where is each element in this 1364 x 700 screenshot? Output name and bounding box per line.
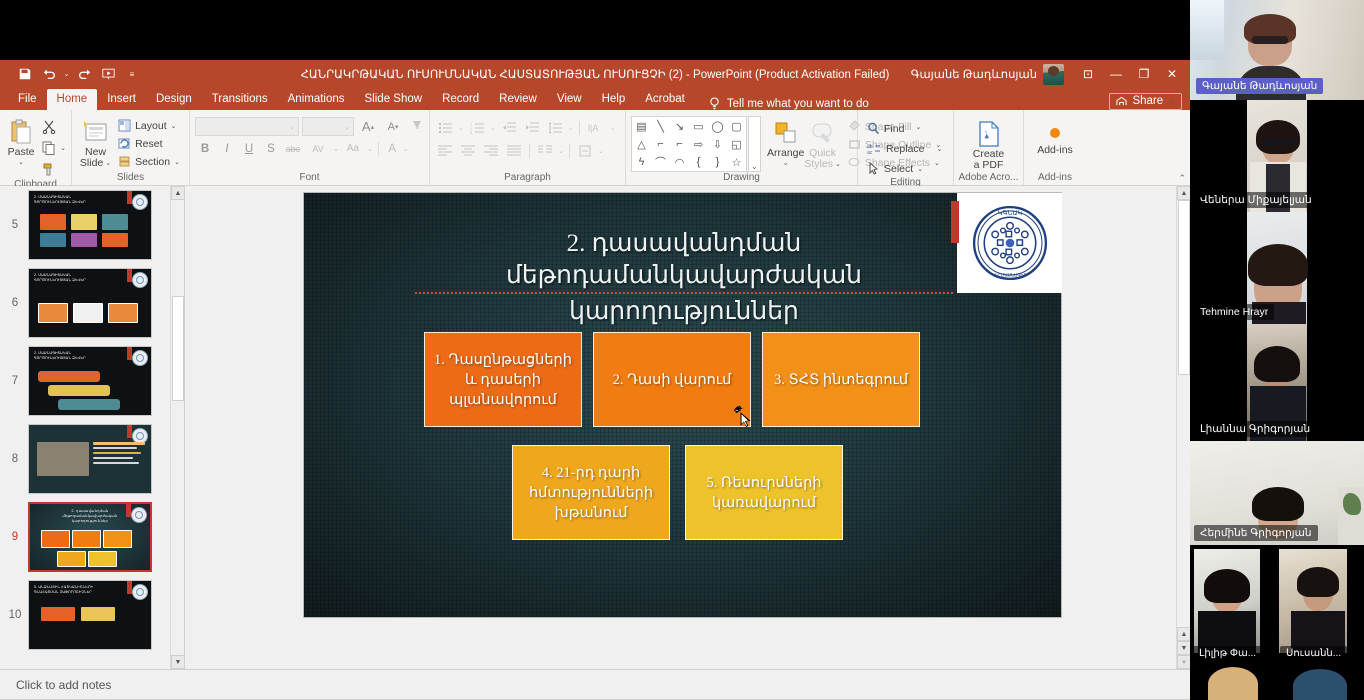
chevron-down-icon[interactable]: ⌄ <box>18 158 24 166</box>
replace-label: Replace <box>886 143 925 155</box>
justify-button[interactable] <box>504 141 524 160</box>
account-name[interactable]: Գայանե Թադևոսյան <box>911 67 1037 81</box>
thumbnail-logo-icon <box>131 507 147 523</box>
triangle-shape[interactable]: △ <box>632 135 651 153</box>
quick-styles-icon <box>810 118 836 148</box>
thumbnail-title: 2. ՄԱՍՆԱԳԻՏԱԿԱՆԳՈՐԾՈՒՆԵՈՒԹՅԱՆ ՁԵՎԵՐ <box>34 351 131 361</box>
ribbon-tabs: File Home Insert Design Transitions Anim… <box>0 88 1190 110</box>
participant-tile[interactable]: Tehmine Hrayr <box>1190 212 1364 324</box>
content-box-4[interactable]: 4. 21-րդ դարի հմտությունների խթանում <box>512 445 670 540</box>
tab-transitions[interactable]: Transitions <box>202 89 278 110</box>
thumbnail-item[interactable]: 5 2. ՄԱՍՆԱԳԻՏԱԿԱՆԳՈՐԾՈՒՆԵՈՒԹՅԱՆ ՁԵՎԵՐ <box>0 186 184 264</box>
participant-name: Վեներա Միքայելյան <box>1194 192 1318 208</box>
content-box-1[interactable]: 1. Դասընթացների և դասերի պլանավորում <box>424 332 582 427</box>
rectangle-shape[interactable]: ▭ <box>689 117 708 135</box>
scroll-up-icon[interactable]: ▲ <box>171 186 185 200</box>
chevron-down-icon[interactable]: ⌄ <box>835 159 841 170</box>
chevron-down-icon[interactable]: ⌄ <box>403 145 409 153</box>
tab-slide-show[interactable]: Slide Show <box>355 89 433 110</box>
bullets-button[interactable] <box>435 118 455 137</box>
logo-text: ԿԳՆԱԿ <box>997 209 1022 217</box>
layout-button[interactable]: Layout ⌄ <box>114 117 184 134</box>
scroll-up-icon[interactable]: ▲ <box>1177 186 1191 200</box>
tell-me-search[interactable]: Tell me what you want to do <box>709 97 869 110</box>
thumbnail-item[interactable]: 6 2. ՄԱՍՆԱԳԻՏԱԿԱՆԳՈՐԾՈՒՆԵՈՒԹՅԱՆ ՁԵՎԵՐ <box>0 264 184 342</box>
thumbnail-number: 10 <box>6 609 24 621</box>
chevron-down-icon[interactable]: ⌄ <box>610 124 616 132</box>
thumbnail-item[interactable]: 8 <box>0 420 184 498</box>
share-icon <box>1116 96 1127 107</box>
line-spacing-button[interactable] <box>545 118 565 137</box>
align-left-button[interactable] <box>435 141 455 160</box>
chevron-down-icon[interactable]: ⌄ <box>558 147 564 155</box>
content-box-row-bottom: 4. 21-րդ դարի հմտությունների խթանում 5. … <box>512 445 843 540</box>
slide-title-line1: 2. դասավանդման <box>414 228 954 260</box>
elbow2-shape[interactable]: ⌐ <box>670 135 689 153</box>
participant-tile-row-partial <box>1190 665 1364 700</box>
scrollbar-thumb[interactable] <box>172 296 184 401</box>
add-ins-label: Add-ins <box>1037 145 1073 156</box>
tab-acrobat[interactable]: Acrobat <box>635 89 695 110</box>
ribbon-group-addins: Add-ins Add-ins <box>1024 110 1086 185</box>
font-color-button[interactable]: A <box>384 139 401 158</box>
thumbnail-scrollbar[interactable]: ▲ ▼ <box>170 186 184 669</box>
content-box-5[interactable]: 5. Ռեսուրսների կառավարում <box>685 445 843 540</box>
replace-button[interactable]: abac Replace ⌄ <box>863 140 946 157</box>
shape-gallery[interactable]: ▤ ╲ ↘ ▭ ◯ ▢ △ ⌐ ⌐ ⇨ ⇩ ◱ ϟ <box>631 116 747 172</box>
title-bar: ⌄ ≡ ՀԱՆՐԱԿՐԹԱԿԱՆ ՈՒՍՈՒՄՆԱԿԱՆ ՀԱՍՏԱՏՈՒԹՅԱ… <box>0 60 1190 88</box>
start-presentation-icon[interactable] <box>97 64 119 84</box>
new-slide-label-line2: Slide <box>80 158 103 169</box>
screen: ⌄ ≡ ՀԱՆՐԱԿՐԹԱԿԱՆ ՈՒՍՈՒՄՆԱԿԱՆ ՀԱՍՏԱՏՈՒԹՅԱ… <box>0 0 1364 700</box>
create-pdf-button[interactable]: Create a PDF <box>959 117 1018 171</box>
change-case-button[interactable]: Aa <box>341 139 365 158</box>
chevron-down-icon[interactable]: ⌄ <box>367 145 373 153</box>
collapse-ribbon-icon[interactable]: ⌃ <box>1178 173 1186 184</box>
content-box-3[interactable]: 3. ՏՀՏ ինտեգրում <box>762 332 920 427</box>
notes-placeholder: Click to add notes <box>16 678 111 692</box>
tab-home[interactable]: Home <box>47 89 98 110</box>
thumbnail-item[interactable]: 7 2. ՄԱՍՆԱԳԻՏԱԿԱՆԳՈՐԾՈՒՆԵՈՒԹՅԱՆ ՁԵՎԵՐ <box>0 342 184 420</box>
chevron-down-icon[interactable]: ⌄ <box>105 158 111 169</box>
flowchart-shape[interactable]: ◱ <box>727 135 746 153</box>
participant-tile[interactable]: Լիաննա Գրիգորյան <box>1190 324 1364 441</box>
svg-text:ac: ac <box>867 150 873 155</box>
slide-vertical-scrollbar[interactable]: ▲ ▲ ▼ ✧ <box>1176 186 1190 669</box>
scroll-down-icon[interactable]: ▼ <box>171 655 185 669</box>
decrease-font-size-icon[interactable]: A▾ <box>382 117 404 136</box>
italic-button[interactable]: I <box>217 139 237 158</box>
next-slide-button[interactable]: ▼ <box>1177 641 1191 655</box>
scrollbar-thumb[interactable] <box>1178 200 1190 375</box>
find-button[interactable]: Find <box>863 120 946 137</box>
chevron-down-icon[interactable]: ⌄ <box>598 147 604 155</box>
increase-font-size-icon[interactable]: A▴ <box>357 117 379 136</box>
redo-icon[interactable] <box>73 64 95 84</box>
paste-icon <box>9 117 33 147</box>
right-arrow-shape[interactable]: ⇨ <box>689 135 708 153</box>
new-slide-button[interactable]: New Slide ⌄ <box>77 115 114 169</box>
group-label-font: Font <box>190 172 429 185</box>
replace-icon: abac <box>867 142 882 155</box>
star-shape[interactable]: ☆ <box>727 153 746 171</box>
text-shadow-button[interactable]: S <box>261 139 281 158</box>
select-icon <box>867 162 880 175</box>
thumbnail-item-selected[interactable]: 9 2. դասավանդմանմեթոդամանկավարժականկարող… <box>0 498 184 576</box>
customize-qat-icon[interactable]: ≡ <box>121 64 143 84</box>
oval-shape[interactable]: ◯ <box>708 117 727 135</box>
ribbon-group-clipboard: Paste ⌄ ⌄ <box>0 110 72 185</box>
chevron-down-icon[interactable]: ⌄ <box>490 124 496 132</box>
chevron-down-icon: ⌄ <box>171 122 177 130</box>
ribbon-group-drawing: ▤ ╲ ↘ ▭ ◯ ▢ △ ⌐ ⌐ ⇨ ⇩ ◱ ϟ <box>626 110 858 185</box>
participant-tile[interactable]: Սուսանն... <box>1277 545 1364 665</box>
select-button[interactable]: Select ⌄ <box>863 160 946 177</box>
left-brace-shape[interactable]: { <box>689 153 708 171</box>
group-label-slides: Slides <box>72 172 189 185</box>
title-bar-right: Գայանե Թադևոսյան ⊡ — ❐ ✕ <box>911 61 1190 87</box>
participant-tile[interactable]: Գայանե Թադևոսյան <box>1190 0 1364 100</box>
thumbnail-preview[interactable]: 2. ՄԱՍՆԱԳԻՏԱԿԱՆԳՈՐԾՈՒՆԵՈՒԹՅԱՆ ՁԵՎԵՐ <box>28 346 152 416</box>
slide-title[interactable]: 2. դասավանդման մեթոդամանկավարժական կարող… <box>414 228 954 328</box>
thumbnail-preview[interactable]: 2. դասավանդմանմեթոդամանկավարժականկարողու… <box>28 502 152 572</box>
current-slide[interactable]: 2. դասավանդման մեթոդամանկավարժական կարող… <box>304 193 1061 617</box>
thumbnail-title: 2. ՄԱՍՆԱԳԻՏԱԿԱՆԳՈՐԾՈՒՆԵՈՒԹՅԱՆ ՁԵՎԵՐ <box>34 195 131 205</box>
chevron-down-icon: ⌄ <box>174 158 180 166</box>
section-icon <box>118 155 131 168</box>
participant-name: Սուսանն... <box>1280 646 1347 661</box>
textbox-shape[interactable]: ▤ <box>632 117 651 135</box>
slide-thumbnail-pane[interactable]: 5 2. ՄԱՍՆԱԳԻՏԱԿԱՆԳՈՐԾՈՒՆԵՈՒԹՅԱՆ ՁԵՎԵՐ 6 <box>0 186 185 669</box>
shape-gallery-more[interactable]: ⌄ <box>748 116 761 172</box>
slide-title-line3: կարողություններ <box>414 296 954 328</box>
font-name-input[interactable]: ⌄ <box>195 117 299 136</box>
slide-editing-area[interactable]: 2. դասավանդման մեթոդամանկավարժական կարող… <box>185 186 1190 669</box>
content-box-row-top: 1. Դասընթացների և դասերի պլանավորում 2. … <box>424 332 920 427</box>
svg-text:3: 3 <box>470 130 473 134</box>
line-shape[interactable]: ╲ <box>651 117 670 135</box>
tab-animations[interactable]: Animations <box>278 89 355 110</box>
participant-name: Հերմինե Գրիգորյան <box>1194 525 1318 541</box>
notes-pane[interactable]: Click to add notes <box>0 669 1190 699</box>
thumbnail-preview[interactable]: 2. ՄԱՍՆԱԳԻՏԱԿԱՆԳՈՐԾՈՒՆԵՈՒԹՅԱՆ ՁԵՎԵՐ <box>28 190 152 260</box>
arrange-button[interactable]: Arrange ⌄ <box>767 116 804 167</box>
participant-tile[interactable]: Հերմինե Գրիգորյան <box>1190 441 1364 545</box>
caret-down-icon[interactable]: ⌄ <box>62 64 71 84</box>
participant-tile[interactable]: Վեներա Միքայելյան <box>1190 100 1364 212</box>
previous-slide-button[interactable]: ▲ <box>1177 627 1191 641</box>
thumbnail-logo-icon <box>132 272 148 288</box>
thumbnail-number: 7 <box>6 375 24 387</box>
participant-name: Լիլիթ Փա... <box>1193 646 1262 661</box>
reset-button[interactable]: Reset <box>114 135 184 152</box>
group-label-drawing: Drawing <box>626 172 857 185</box>
chevron-down-icon: ⌄ <box>917 165 923 173</box>
svg-text:l|A: l|A <box>588 123 598 133</box>
text-direction-button[interactable]: l|A <box>585 118 607 137</box>
share-button[interactable]: Share ⌄ <box>1109 93 1182 110</box>
workspace: 5 2. ՄԱՍՆԱԳԻՏԱԿԱՆԳՈՐԾՈՒՆԵՈՒԹՅԱՆ ՁԵՎԵՐ 6 <box>0 186 1190 669</box>
down-arrow-shape[interactable]: ⇩ <box>708 135 727 153</box>
reset-icon <box>118 137 131 150</box>
ribbon-group-font: ⌄ ⌄ A▴ A▾ B I U S abc AV <box>190 110 430 185</box>
tab-file[interactable]: File <box>8 89 47 110</box>
search-icon <box>867 122 880 135</box>
reset-label: Reset <box>135 138 162 150</box>
columns-button[interactable] <box>535 141 555 160</box>
chevron-down-icon[interactable]: ⌄ <box>783 159 789 167</box>
back-to-first-slide-button[interactable]: ✧ <box>1177 655 1191 669</box>
tab-design[interactable]: Design <box>146 89 202 110</box>
thumbnail-logo-icon <box>132 350 148 366</box>
minimize-button[interactable]: — <box>1102 61 1130 87</box>
ribbon-group-editing: Find abac Replace ⌄ Select ⌄ <box>858 110 954 185</box>
paste-label: Paste <box>8 147 35 158</box>
thumbnail-preview[interactable]: 2. ՄԱՍՆԱԳԻՏԱԿԱՆԳՈՐԾՈՒՆԵՈՒԹՅԱՆ ՁԵՎԵՐ <box>28 268 152 338</box>
undo-icon[interactable] <box>38 64 60 84</box>
align-right-button[interactable] <box>481 141 501 160</box>
ribbon-group-slides: New Slide ⌄ Layout ⌄ <box>72 110 190 185</box>
logo-subtext: ՀՀ ՄԱՍՆԱԳԻՏ <box>993 273 1026 278</box>
powerpoint-window: ⌄ ≡ ՀԱՆՐԱԿՐԹԱԿԱՆ ՈՒՍՈՒՄՆԱԿԱՆ ՀԱՍՏԱՏՈՒԹՅԱ… <box>0 60 1190 700</box>
participant-tile[interactable]: Լիլիթ Փա... <box>1190 545 1277 665</box>
tab-record[interactable]: Record <box>432 89 489 110</box>
find-label: Find <box>884 123 904 135</box>
curve-shape[interactable]: ⌒ <box>651 153 670 171</box>
rounded-rect-shape[interactable]: ▢ <box>727 117 746 135</box>
align-text-button[interactable] <box>575 141 595 160</box>
strikethrough-button[interactable]: abc <box>283 139 303 158</box>
section-label: Section <box>135 156 170 168</box>
chevron-down-icon[interactable]: ⌄ <box>568 124 574 132</box>
restore-button[interactable]: ❐ <box>1130 61 1158 87</box>
thumbnail-title: 2. ՄԱՍՆԱԳԻՏԱԿԱՆԳՈՐԾՈՒՆԵՈՒԹՅԱՆ ՁԵՎԵՐ <box>34 273 131 283</box>
chevron-down-icon[interactable]: ⌄ <box>333 145 339 153</box>
content-box-2[interactable]: 2. Դասի վարում <box>593 332 751 427</box>
participant-tile[interactable] <box>1190 665 1277 700</box>
close-button[interactable]: ✕ <box>1158 61 1186 87</box>
arc-shape[interactable]: ◠ <box>670 153 689 171</box>
section-button[interactable]: Section ⌄ <box>114 153 184 170</box>
character-spacing-button[interactable]: AV <box>305 139 331 158</box>
new-slide-icon <box>83 117 109 147</box>
clear-formatting-icon[interactable] <box>407 117 427 136</box>
copy-icon[interactable] <box>38 138 60 158</box>
thumbnail-title: 3. ԱՆՁՆԱՅԻՆ ՀԱՏԿԱՆԻՇՆԵՐԻԳՆԱՀԱՏՄԱՆ ՉԱՓՈՐՈ… <box>34 585 131 595</box>
participant-name: Լիաննա Գրիգորյան <box>1194 421 1316 437</box>
participant-tile[interactable] <box>1277 665 1364 700</box>
layout-icon <box>118 119 131 132</box>
cut-icon[interactable] <box>38 117 60 137</box>
thumbnail-logo-icon <box>132 194 148 210</box>
align-center-button[interactable] <box>458 141 478 160</box>
thumbnail-title: 2. դասավանդմանմեթոդամանկավարժականկարողու… <box>46 509 134 524</box>
arrange-icon <box>773 118 799 148</box>
arrow-shape[interactable]: ↘ <box>670 117 689 135</box>
quick-styles-label-2: Styles <box>804 159 833 170</box>
ribbon-group-adobe: Create a PDF Adobe Acro... <box>954 110 1024 185</box>
tab-review[interactable]: Review <box>489 89 547 110</box>
chevron-down-icon: ⌄ <box>1168 97 1174 105</box>
add-ins-icon <box>1046 121 1064 145</box>
add-ins-button[interactable]: Add-ins <box>1029 119 1081 156</box>
chevron-down-icon[interactable]: ⌄ <box>937 145 943 153</box>
freeform-shape[interactable]: ϟ <box>632 153 651 171</box>
chevron-down-icon[interactable]: ⌄ <box>60 144 66 152</box>
increase-indent-button[interactable] <box>522 118 542 137</box>
thumbnail-number: 9 <box>6 531 24 543</box>
tab-insert[interactable]: Insert <box>97 89 146 110</box>
institution-logo[interactable]: ԿԳՆԱԿ ՀՀ ՄԱՍՆԱԳԻՏ <box>957 193 1062 293</box>
tab-help[interactable]: Help <box>592 89 636 110</box>
ribbon-group-paragraph: ⌄ 123 ⌄ ⌄ <box>430 110 626 185</box>
participant-name: Tehmine Hrayr <box>1194 304 1274 320</box>
avatar[interactable] <box>1043 64 1064 85</box>
participant-tile-row: Լիլիթ Փա... Սուսանն... <box>1190 545 1364 665</box>
thumbnail-preview[interactable] <box>28 424 152 494</box>
select-label: Select <box>884 163 913 175</box>
kgnak-logo-icon: ԿԳՆԱԿ ՀՀ ՄԱՍՆԱԳԻՏ <box>971 204 1049 282</box>
thumbnail-logo-icon <box>132 584 148 600</box>
group-label-adobe: Adobe Acro... <box>954 172 1023 185</box>
bold-button[interactable]: B <box>195 139 215 158</box>
ribbon: Paste ⌄ ⌄ <box>0 110 1190 186</box>
ribbon-display-options-icon[interactable]: ⊡ <box>1074 61 1102 87</box>
video-conference-panel: Գայանե Թադևոսյան Վեներա Միքայելյան Tehmi… <box>1190 0 1364 700</box>
paste-button[interactable]: Paste ⌄ <box>5 115 37 166</box>
share-label: Share <box>1132 95 1163 107</box>
save-icon[interactable] <box>14 64 36 84</box>
layout-label: Layout <box>135 120 167 132</box>
participant-name: Գայանե Թադևոսյան <box>1196 78 1323 94</box>
font-size-input[interactable]: ⌄ <box>302 117 354 136</box>
underline-button[interactable]: U <box>239 139 259 158</box>
slide-title-line2: մեթոդամանկավարժական <box>414 260 954 296</box>
thumbnail-preview[interactable]: 3. ԱՆՁՆԱՅԻՆ ՀԱՏԿԱՆԻՇՆԵՐԻԳՆԱՀԱՏՄԱՆ ՉԱՓՈՐՈ… <box>28 580 152 650</box>
right-brace-shape[interactable]: } <box>708 153 727 171</box>
chevron-down-icon[interactable]: ⌄ <box>458 124 464 132</box>
format-painter-icon[interactable] <box>38 159 60 179</box>
thumbnail-number: 8 <box>6 453 24 465</box>
elbow-shape[interactable]: ⌐ <box>651 135 670 153</box>
group-label-addins: Add-ins <box>1024 172 1086 185</box>
tell-me-label: Tell me what you want to do <box>727 98 869 110</box>
adobe-pdf-icon <box>976 119 1002 149</box>
tab-view[interactable]: View <box>547 89 592 110</box>
quick-styles-button[interactable]: Quick Styles ⌄ <box>804 116 840 170</box>
thumbnail-number: 6 <box>6 297 24 309</box>
lightbulb-icon <box>709 97 720 110</box>
group-label-paragraph: Paragraph <box>430 172 625 185</box>
arrange-label: Arrange <box>767 148 804 159</box>
numbering-button[interactable]: 123 <box>467 118 487 137</box>
thumbnail-item[interactable]: 10 3. ԱՆՁՆԱՅԻՆ ՀԱՏԿԱՆԻՇՆԵՐԻԳՆԱՀԱՏՄԱՆ ՉԱՓ… <box>0 576 184 654</box>
thumbnail-number: 5 <box>6 219 24 231</box>
quick-access-toolbar: ⌄ ≡ <box>0 64 143 84</box>
desktop-backdrop <box>0 0 1190 60</box>
create-pdf-label-2: a PDF <box>974 160 1004 171</box>
decrease-indent-button[interactable] <box>499 118 519 137</box>
